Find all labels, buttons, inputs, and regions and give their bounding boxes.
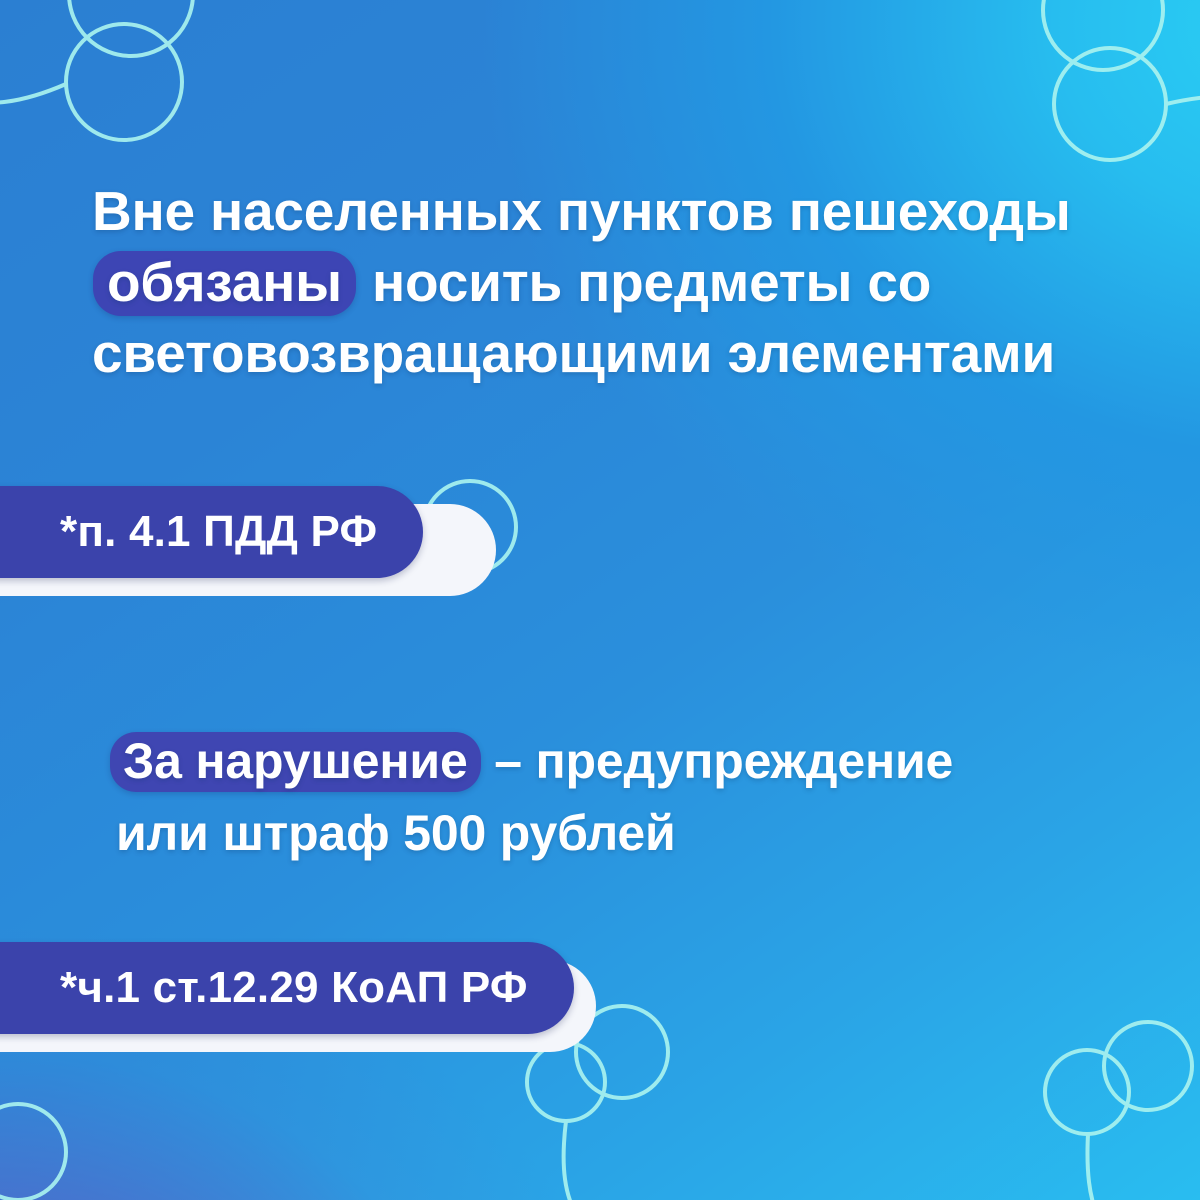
statement-line-2: или штраф 500 рублей: [110, 800, 1130, 866]
statement-part-2: – предупреждение: [481, 733, 954, 789]
headline-part-1: Вне населенных пунктов пешеходы: [92, 180, 1071, 242]
source-badge-koap: *ч.1 ст.12.29 КоАП РФ: [0, 942, 574, 1034]
ring-bottom-right-b: [1104, 1022, 1192, 1110]
ring-top-left-b: [69, 0, 193, 56]
headline-text: Вне населенных пунктов пешеходы обязаны …: [92, 176, 1122, 389]
source-badge-pdd-label: *п. 4.1 ПДД РФ: [60, 507, 377, 557]
source-badge-pdd: *п. 4.1 ПДД РФ: [0, 486, 423, 578]
statement-text: За нарушение – предупреждение или штраф …: [110, 728, 1130, 866]
ring-top-right-tail: [1166, 96, 1200, 104]
source-badge-koap-label: *ч.1 ст.12.29 КоАП РФ: [60, 963, 528, 1013]
ring-top-left-a: [66, 24, 182, 140]
ring-top-left-tail: [0, 84, 66, 103]
poster-canvas: Вне населенных пунктов пешеходы обязаны …: [0, 0, 1200, 1200]
headline-highlight-pill: обязаны: [93, 251, 356, 316]
ring-bottom-right-tail: [1087, 1134, 1096, 1200]
ring-top-right-a: [1054, 48, 1166, 160]
ring-bottom-right-a: [1045, 1050, 1129, 1134]
ring-bottom-left-a: [0, 1104, 66, 1200]
ring-bottom-center-a: [527, 1043, 605, 1121]
ring-bottom-center-tail: [564, 1121, 576, 1200]
statement-highlight-pill: За нарушение: [110, 732, 481, 792]
ring-top-right-b: [1043, 0, 1163, 70]
